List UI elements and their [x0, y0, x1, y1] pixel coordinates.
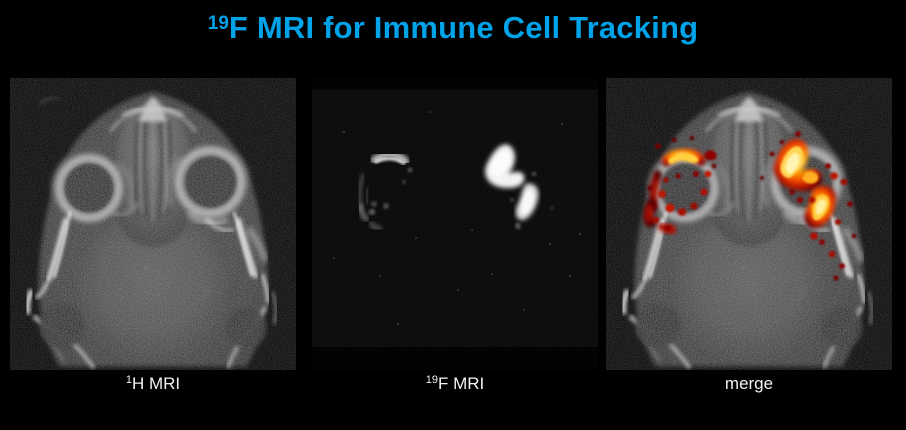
- panel-merge[interactable]: [606, 78, 892, 370]
- title-main-text: F MRI for Immune Cell Tracking: [229, 10, 698, 45]
- caption-f-mri: 19F MRI: [312, 375, 598, 392]
- caption-f-superscript: 19: [426, 374, 438, 386]
- page-title: 19F MRI for Immune Cell Tracking: [0, 12, 906, 43]
- figure-root: 19F MRI for Immune Cell Tracking: [0, 0, 906, 430]
- caption-h-text: H MRI: [132, 374, 180, 393]
- caption-f-text: F MRI: [438, 374, 484, 393]
- panel-f-mri[interactable]: [312, 78, 598, 370]
- panel-h-mri[interactable]: [10, 78, 296, 370]
- title-superscript: 19: [208, 13, 229, 34]
- caption-h-mri: 1H MRI: [10, 375, 296, 392]
- h-mri-image: [10, 78, 296, 370]
- caption-merge-text: merge: [725, 374, 773, 393]
- caption-merge: merge: [606, 375, 892, 392]
- f-mri-image: [312, 78, 598, 370]
- merge-image: [606, 78, 892, 370]
